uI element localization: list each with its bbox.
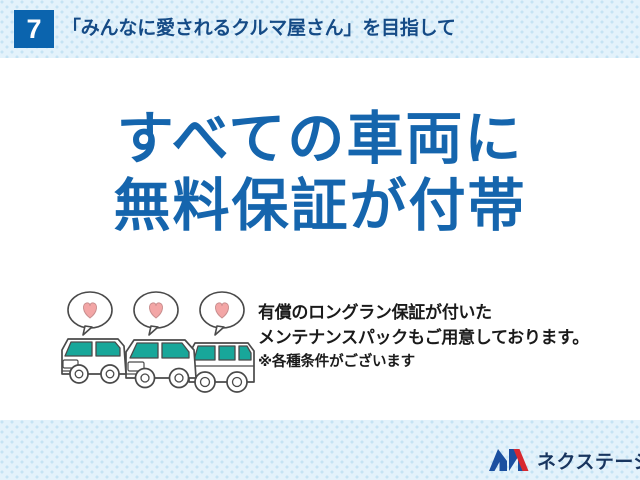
- section-number-badge: 7: [14, 10, 54, 48]
- body-text-line-1: 有償のロングラン保証が付いた: [258, 300, 628, 325]
- promo-banner: 7 「みんなに愛されるクルマ屋さん」を目指して すべての車両に 無料保証が付帯: [0, 0, 640, 480]
- headline-line-1: すべての車両に: [0, 106, 640, 173]
- body-text-line-2: メンテナンスパックもご用意しております。: [258, 325, 628, 350]
- content-area: すべての車両に 無料保証が付帯: [0, 58, 640, 420]
- three-cars-illustration: [58, 288, 258, 400]
- body-text-block: 有償のロングラン保証が付いた メンテナンスパックもご用意しております。 ※各種条…: [258, 300, 628, 374]
- brand-logo-text: ネクステージ: [537, 447, 640, 474]
- n-mark-icon: [488, 447, 530, 473]
- headline-line-2: 無料保証が付帯: [0, 173, 640, 240]
- lower-content: 有償のロングラン保証が付いた メンテナンスパックもご用意しております。 ※各種条…: [0, 288, 640, 408]
- header-title: 「みんなに愛されるクルマ屋さん」を目指して: [62, 13, 456, 45]
- brand-logo: ネクステージ: [488, 444, 640, 476]
- body-text-note: ※各種条件がございます: [258, 350, 628, 374]
- headline: すべての車両に 無料保証が付帯: [0, 106, 640, 240]
